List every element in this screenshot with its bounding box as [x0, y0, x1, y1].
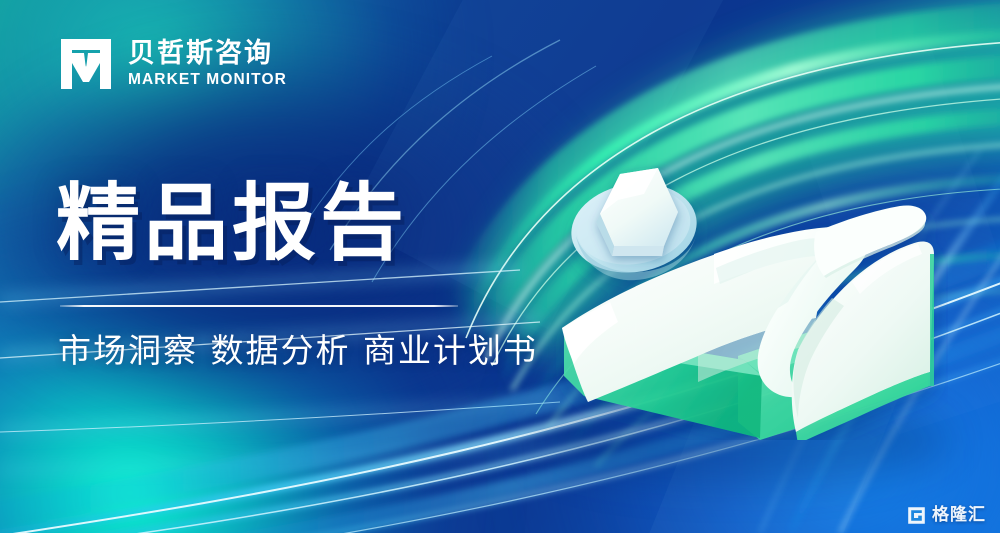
- watermark: 格隆汇: [907, 506, 986, 525]
- title-divider: [60, 305, 458, 307]
- market-monitor-m-logo-icon: [58, 36, 114, 92]
- report-cover-banner: 贝哲斯咨询 MARKET MONITOR 精品报告 市场洞察 数据分析 商业计划…: [0, 0, 1000, 533]
- watermark-text: 格隆汇: [932, 507, 986, 524]
- gelonghui-g-logo-icon: [907, 506, 926, 525]
- page-title: 精品报告: [56, 176, 408, 270]
- subtitle: 市场洞察 数据分析 商业计划书: [58, 330, 538, 373]
- brand-name-en: MARKET MONITOR: [128, 72, 287, 88]
- brand-logo: 贝哲斯咨询 MARKET MONITOR: [58, 36, 287, 92]
- brand-logo-text: 贝哲斯咨询 MARKET MONITOR: [128, 40, 287, 88]
- brand-name-cn: 贝哲斯咨询: [128, 40, 287, 68]
